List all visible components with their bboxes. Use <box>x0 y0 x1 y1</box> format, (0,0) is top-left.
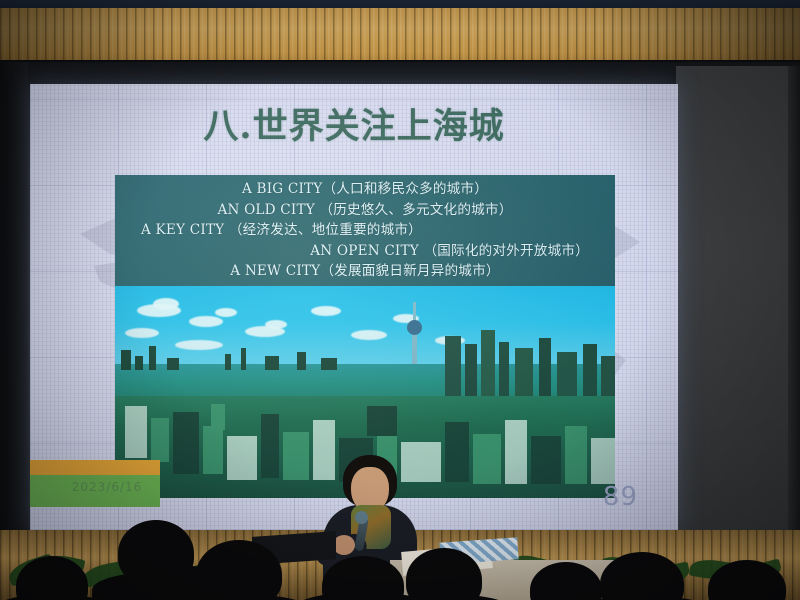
accent-bar-orange <box>30 460 160 475</box>
microphone-head <box>355 511 368 524</box>
wall-shadow-left <box>0 8 170 66</box>
slide-page-number: 89 <box>603 482 638 512</box>
date-stamp: 2023/6/16 <box>52 480 162 494</box>
slide-title: 八.世界关注上海城 <box>30 98 678 149</box>
speaker-hand <box>333 535 355 555</box>
right-wall-edge <box>788 66 800 532</box>
left-wall-edge <box>0 62 28 534</box>
slide-textbox: A BIG CITY（人口和移民众多的城市） AN OLD CITY （历史悠久… <box>115 175 615 286</box>
textbox-line-3: A KEY CITY （经济发达、地位重要的城市） <box>115 220 615 241</box>
textbox-line-2: AN OLD CITY （历史悠久、多元文化的城市） <box>115 200 615 221</box>
right-side-wall <box>676 66 794 532</box>
textbox-line-1: A BIG CITY（人口和移民众多的城市） <box>115 179 615 200</box>
textbox-line-5: A NEW CITY（发展面貌日新月异的城市） <box>115 261 615 282</box>
lecture-hall-photo: 八.世界关注上海城 A BIG CITY（人口和移民众多的城市） AN OLD … <box>0 0 800 600</box>
textbox-line-4: AN OPEN CITY （国际化的对外开放城市） <box>115 241 615 262</box>
wall-shadow-right <box>600 8 800 66</box>
